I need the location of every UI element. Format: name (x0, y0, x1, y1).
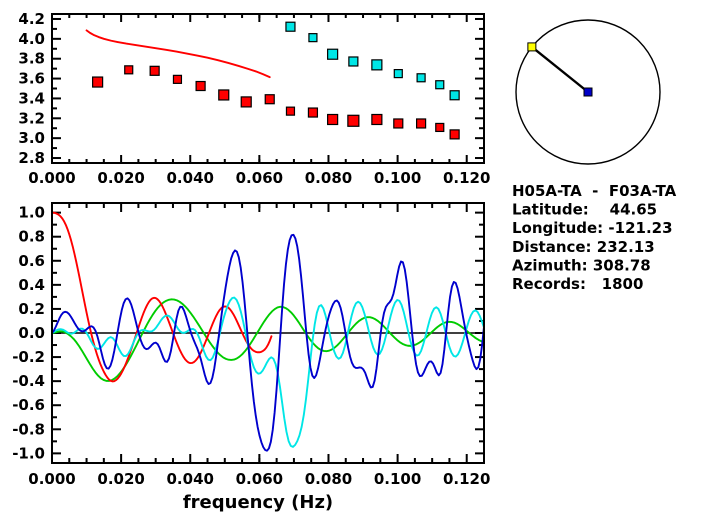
dispersion-point (265, 95, 274, 104)
dispersion-point (450, 130, 459, 139)
x-tick-label: 0.040 (167, 470, 214, 488)
dispersion-point (394, 70, 402, 78)
y-tick-label: -0.6 (12, 396, 45, 414)
cyan-trace (52, 298, 484, 447)
y-tick-label: -0.8 (12, 420, 45, 438)
dispersion-point (308, 108, 317, 117)
dispersion-point (417, 74, 425, 82)
dispersion-panel: 0.0000.0200.0400.0600.0800.1000.1202.83.… (18, 10, 490, 187)
x-tick-label: 0.020 (97, 169, 144, 187)
y-tick-label: 3.4 (18, 89, 45, 107)
x-tick-label: 0.080 (305, 169, 352, 187)
station-pair-label: H05A-TA - F03A-TA (512, 182, 677, 200)
x-tick-label: 0.000 (28, 470, 75, 488)
x-tick-label: 0.080 (305, 470, 352, 488)
dispersion-point (348, 115, 359, 126)
info-row: Azimuth: 308.78 (512, 256, 651, 274)
dispersion-point (219, 90, 229, 100)
y-tick-label: 0.0 (18, 324, 45, 342)
x-tick-label: 0.100 (374, 169, 421, 187)
cross-correlation-panel: 0.0000.0200.0400.0600.0800.1000.120-1.0-… (12, 203, 490, 513)
info-row: Distance: 232.13 (512, 238, 655, 256)
remote-station-marker (528, 43, 536, 51)
dispersion-point (417, 119, 426, 128)
info-panel: H05A-TA - F03A-TALatitude: 44.65Longitud… (512, 182, 677, 293)
dispersion-point (286, 22, 295, 31)
dispersion-point (328, 114, 338, 124)
dispersion-point (286, 107, 294, 115)
y-tick-label: 0.2 (18, 300, 45, 318)
dispersion-point (241, 97, 251, 107)
dispersion-point (372, 60, 382, 70)
dispersion-point (349, 57, 358, 66)
y-tick-label: 3.8 (18, 50, 45, 68)
dispersion-point (196, 82, 205, 91)
x-axis-title: frequency (Hz) (183, 492, 333, 513)
y-tick-label: -0.4 (12, 372, 45, 390)
x-tick-label: 0.020 (97, 470, 144, 488)
dispersion-point (173, 75, 181, 83)
info-row: Longitude: -121.23 (512, 219, 673, 237)
dispersion-plot-frame (52, 14, 484, 163)
figure-root: 0.0000.0200.0400.0600.0800.1000.1202.83.… (0, 0, 702, 519)
y-tick-label: 0.8 (18, 228, 45, 246)
figure-canvas: 0.0000.0200.0400.0600.0800.1000.1202.83.… (0, 0, 702, 519)
y-tick-label: 3.2 (18, 109, 45, 127)
y-tick-label: 4.0 (18, 30, 45, 48)
x-tick-label: 0.040 (167, 169, 214, 187)
x-tick-label: 0.120 (443, 169, 490, 187)
y-tick-label: 2.8 (18, 149, 45, 167)
dispersion-point (372, 114, 382, 124)
y-tick-label: 3.0 (18, 129, 45, 147)
y-tick-label: 0.6 (18, 252, 45, 270)
y-tick-label: 0.4 (18, 276, 45, 294)
x-tick-label: 0.100 (374, 470, 421, 488)
dispersion-point (450, 91, 459, 100)
y-tick-label: 3.6 (18, 70, 45, 88)
azimuth-ray (532, 47, 588, 92)
azimuth-compass (516, 20, 660, 164)
dispersion-point (436, 81, 444, 89)
info-row: Records: 1800 (512, 275, 643, 293)
y-tick-label: -0.2 (12, 348, 45, 366)
dispersion-point (150, 66, 159, 75)
dispersion-reference-curve (87, 30, 270, 77)
info-row: Latitude: 44.65 (512, 201, 657, 219)
y-tick-label: 1.0 (18, 204, 45, 222)
dispersion-point (394, 119, 403, 128)
x-tick-label: 0.060 (236, 470, 283, 488)
dispersion-point (436, 123, 444, 131)
dispersion-point (125, 66, 133, 74)
y-tick-label: 4.2 (18, 10, 45, 28)
y-tick-label: -1.0 (12, 444, 45, 462)
dispersion-point (93, 77, 103, 87)
x-tick-label: 0.060 (236, 169, 283, 187)
x-tick-label: 0.000 (28, 169, 75, 187)
center-station-marker (584, 88, 592, 96)
dispersion-point (309, 34, 317, 42)
dispersion-point (328, 49, 338, 59)
x-tick-label: 0.120 (443, 470, 490, 488)
